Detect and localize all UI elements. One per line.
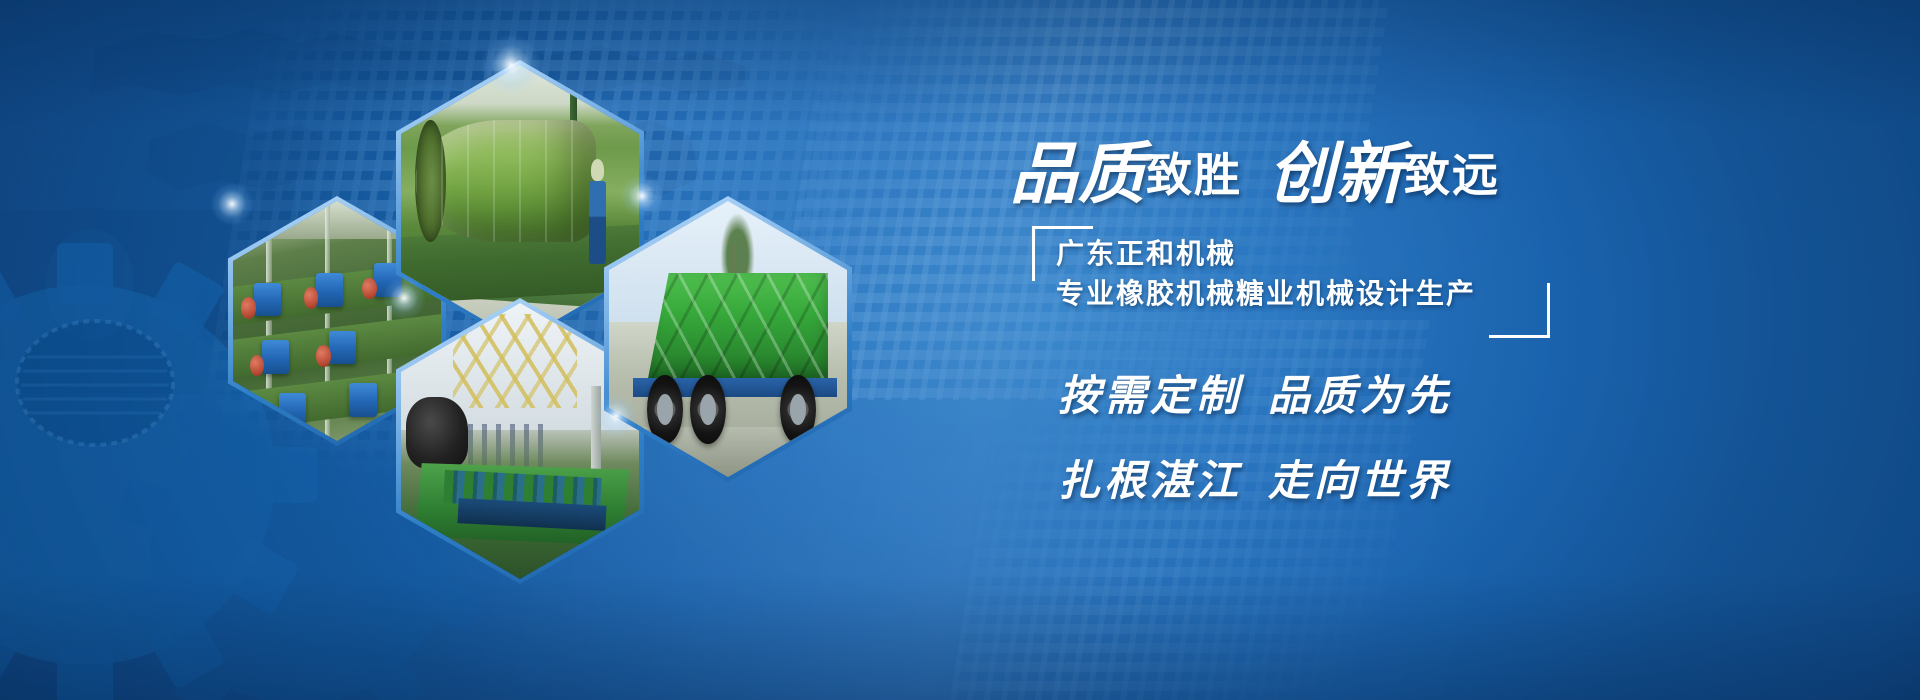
hexagon-photo-cluster xyxy=(228,48,868,568)
headline-part1-sub: 致胜 xyxy=(1146,149,1242,201)
headline-part2-main: 创新 xyxy=(1268,138,1404,212)
headline-part1-main: 品质 xyxy=(1010,138,1146,212)
subtitle-line-2: 专业橡胶机械糖业机械设计生产 xyxy=(1056,274,1476,314)
slogan-2-left: 扎根湛江 xyxy=(1058,459,1242,505)
hexagon-inner-mask xyxy=(609,201,847,477)
bracket-bottom-right xyxy=(1489,283,1550,338)
subtitle-bracket-block: 广东正和机械 专业橡胶机械糖业机械设计生产 xyxy=(1032,226,1532,338)
hero-banner: 品质致胜创新致远 广东正和机械 专业橡胶机械糖业机械设计生产 按需定制品质为先 … xyxy=(0,0,1920,700)
slogan-row: 按需定制品质为先 xyxy=(1058,362,1452,423)
banner-headline: 品质致胜创新致远 xyxy=(1010,120,1570,216)
headline-part2-sub: 致远 xyxy=(1404,149,1500,201)
slogan-1-right: 品质为先 xyxy=(1268,374,1452,420)
slogan-1-left: 按需定制 xyxy=(1058,374,1242,420)
slogan-row: 扎根湛江走向世界 xyxy=(1058,447,1452,508)
subtitle-line-1: 广东正和机械 xyxy=(1056,234,1236,274)
sparkle-highlight xyxy=(210,182,254,226)
slogan-list: 按需定制品质为先 扎根湛江走向世界 xyxy=(1058,362,1452,532)
photo-dump-trailer xyxy=(609,201,847,477)
slogan-2-right: 走向世界 xyxy=(1268,459,1452,505)
